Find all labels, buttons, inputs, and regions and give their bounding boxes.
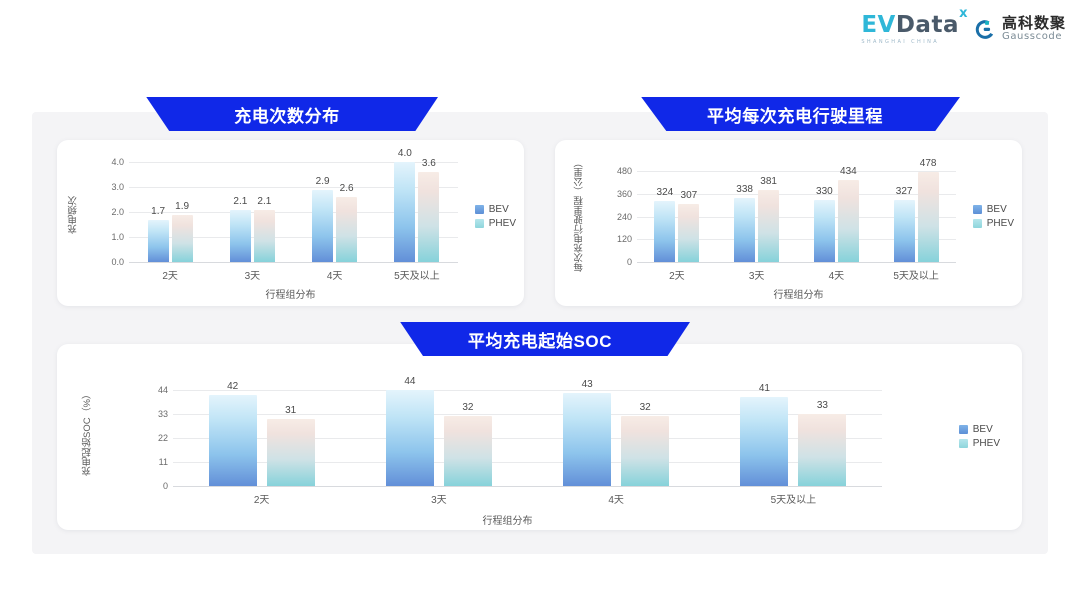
bar-bev[interactable]: 324 — [654, 201, 675, 262]
evdata-subtitle: SHANGHAI CHINA — [861, 39, 939, 45]
chart-title-banner-charging-frequency: 充电次数分布 — [136, 97, 438, 131]
bar-group: 43 32 — [528, 386, 705, 486]
y-axis-label-charging-frequency: 充电频次 — [67, 160, 81, 270]
legend-charging-frequency: BEV PHEV — [475, 204, 516, 229]
chart-charging-frequency: 充电频次 4.0 3.0 2.0 1.0 0.0 1.7 — [57, 140, 524, 306]
page-header: EVData x SHANGHAI CHINA 高科数聚 Gausscode — [0, 0, 1080, 62]
evdata-data-text: Data — [896, 12, 959, 38]
bar-group: 42 31 — [173, 386, 350, 486]
y-tick-label: 0 — [627, 257, 632, 267]
x-axis-labels-charging-frequency: 2天 3天 4天 5天及以上 — [129, 267, 458, 282]
bar-group: 327 478 — [876, 162, 956, 262]
bar-bev[interactable]: 44 — [386, 390, 434, 486]
bar-group: 324 307 — [637, 162, 717, 262]
bar-groups-avg-start-soc: 42 31 44 32 43 — [173, 386, 882, 486]
gridline-baseline: 0.0 — [129, 262, 458, 263]
chart-title-banner-avg-range-per-charge: 平均每次充电行驶里程 — [630, 97, 960, 131]
y-tick-label: 33 — [158, 409, 168, 419]
gausscode-name-en: Gausscode — [1002, 32, 1066, 43]
bar-phev[interactable]: 1.9 — [172, 215, 193, 263]
bar-value-label: 2.1 — [233, 196, 247, 207]
x-tick-label: 4天 — [797, 267, 877, 282]
x-tick-label: 2天 — [637, 267, 717, 282]
bar-bev[interactable]: 2.9 — [312, 190, 333, 263]
bar-bev[interactable]: 4.0 — [394, 162, 415, 262]
bar-phev[interactable]: 2.6 — [336, 197, 357, 262]
chart-title-charging-frequency: 充电次数分布 — [216, 102, 358, 127]
bar-value-label: 33 — [817, 400, 828, 411]
legend-item-bev[interactable]: BEV — [475, 204, 516, 215]
bar-value-label: 1.7 — [151, 206, 165, 217]
gausscode-logo: 高科数聚 Gausscode — [973, 16, 1066, 42]
legend-item-bev[interactable]: BEV — [959, 424, 1000, 435]
x-tick-label: 3天 — [211, 267, 293, 282]
bar-bev[interactable]: 42 — [209, 395, 257, 486]
bar-value-label: 43 — [582, 379, 593, 390]
legend-item-bev[interactable]: BEV — [973, 204, 1014, 215]
bar-phev[interactable]: 32 — [621, 416, 669, 486]
bar-group: 338 381 — [717, 162, 797, 262]
bar-phev[interactable]: 31 — [267, 419, 315, 486]
bar-value-label: 381 — [760, 176, 777, 187]
legend-label-bev: BEV — [973, 424, 993, 435]
bar-bev[interactable]: 41 — [740, 397, 788, 486]
x-tick-label: 5天及以上 — [705, 491, 882, 506]
y-tick-label: 0.0 — [111, 257, 124, 267]
chart-title-avg-start-soc: 平均充电起始SOC — [450, 327, 630, 352]
bar-value-label: 324 — [657, 187, 674, 198]
bar-bev[interactable]: 43 — [563, 393, 611, 487]
y-axis-label-avg-range-per-charge: 每次充电行驶里程 （公里） — [567, 156, 593, 274]
y-axis-label-text: 每次充电行驶里程 — [574, 196, 586, 272]
bar-phev[interactable]: 33 — [798, 414, 846, 486]
x-axis-title-avg-range-per-charge: 行程组分布 — [565, 286, 1032, 301]
y-tick-label: 480 — [617, 166, 632, 176]
bar-value-label: 338 — [736, 184, 753, 195]
y-tick-label: 11 — [159, 457, 168, 467]
chart-avg-range-per-charge: 每次充电行驶里程 （公里） 480 360 240 120 0 — [555, 140, 1022, 306]
x-tick-label: 3天 — [350, 491, 527, 506]
bar-value-label: 2.9 — [316, 176, 330, 187]
bar-group: 2.9 2.6 — [294, 162, 376, 262]
gausscode-name-cn: 高科数聚 — [1002, 16, 1066, 32]
bar-phev[interactable]: 434 — [838, 180, 859, 262]
x-tick-label: 4天 — [294, 267, 376, 282]
bar-value-label: 4.0 — [398, 148, 412, 159]
bar-value-label: 1.9 — [175, 201, 189, 212]
bar-value-label: 2.6 — [340, 183, 354, 194]
x-tick-label: 4天 — [528, 491, 705, 506]
bar-phev[interactable]: 478 — [918, 172, 939, 263]
bar-bev[interactable]: 327 — [894, 200, 915, 262]
bar-value-label: 44 — [404, 376, 415, 387]
x-axis-title-avg-start-soc: 行程组分布 — [25, 512, 990, 527]
bar-groups-charging-frequency: 1.7 1.9 2.1 2.1 2.9 — [129, 162, 458, 262]
y-tick-label: 3.0 — [111, 182, 124, 192]
bar-value-label: 41 — [759, 383, 770, 394]
legend-avg-range-per-charge: BEV PHEV — [973, 204, 1014, 229]
y-tick-label: 4.0 — [111, 157, 124, 167]
bar-bev[interactable]: 330 — [814, 200, 835, 263]
legend-label-bev: BEV — [489, 204, 509, 215]
x-axis-labels-avg-range-per-charge: 2天 3天 4天 5天及以上 — [637, 267, 956, 282]
x-axis-title-charging-frequency: 行程组分布 — [57, 286, 524, 301]
y-tick-label: 2.0 — [111, 207, 124, 217]
legend-swatch-phev-icon — [475, 219, 484, 228]
chart-card-avg-start-soc: 充电起始SOC （%） 44 33 22 11 0 42 — [57, 344, 1022, 530]
bar-group: 41 33 — [705, 386, 882, 486]
y-axis-label-text: 充电起始SOC — [82, 417, 94, 476]
bar-phev[interactable]: 32 — [444, 416, 492, 486]
x-tick-label: 2天 — [129, 267, 211, 282]
legend-label-bev: BEV — [987, 204, 1007, 215]
gridline-baseline: 0 — [173, 486, 882, 487]
bar-groups-avg-range-per-charge: 324 307 338 381 330 — [637, 162, 956, 262]
legend-item-phev[interactable]: PHEV — [973, 218, 1014, 229]
evdata-ev-text: EV — [861, 12, 896, 38]
chart-title-banner-avg-start-soc: 平均充电起始SOC — [390, 322, 690, 356]
bar-phev[interactable]: 307 — [678, 204, 699, 262]
legend-swatch-phev-icon — [959, 439, 968, 448]
gausscode-text: 高科数聚 Gausscode — [1002, 16, 1066, 42]
x-tick-label: 2天 — [173, 491, 350, 506]
bar-bev[interactable]: 1.7 — [148, 220, 169, 263]
legend-label-phev: PHEV — [987, 218, 1014, 229]
bar-group: 2.1 2.1 — [211, 162, 293, 262]
bar-phev[interactable]: 2.1 — [254, 210, 275, 263]
evdata-logo: EVData x SHANGHAI CHINA — [861, 14, 959, 45]
y-axis-label-unit: （公里） — [574, 158, 586, 196]
y-axis-label-avg-start-soc: 充电起始SOC （%） — [75, 378, 101, 488]
bar-bev[interactable]: 338 — [734, 198, 755, 262]
bar-value-label: 42 — [227, 381, 238, 392]
bar-value-label: 434 — [840, 166, 857, 177]
x-axis-labels-avg-start-soc: 2天 3天 4天 5天及以上 — [173, 491, 882, 506]
bar-value-label: 307 — [681, 190, 698, 201]
y-tick-label: 360 — [617, 189, 632, 199]
x-tick-label: 3天 — [717, 267, 797, 282]
legend-label-phev: PHEV — [973, 438, 1000, 449]
y-axis-label-unit: （%） — [82, 390, 94, 417]
legend-swatch-bev-icon — [475, 205, 484, 214]
x-tick-label: 5天及以上 — [876, 267, 956, 282]
legend-item-phev[interactable]: PHEV — [475, 218, 516, 229]
y-tick-label: 120 — [617, 234, 632, 244]
bar-group: 330 434 — [797, 162, 877, 262]
legend-label-phev: PHEV — [489, 218, 516, 229]
x-tick-label: 5天及以上 — [376, 267, 458, 282]
plot-area-avg-start-soc: 44 33 22 11 0 42 31 — [173, 386, 882, 486]
bar-phev[interactable]: 381 — [758, 190, 779, 262]
bar-value-label: 32 — [640, 402, 651, 413]
bar-value-label: 330 — [816, 186, 833, 197]
y-axis-label-text: 充电频次 — [68, 196, 80, 234]
bar-value-label: 2.1 — [257, 196, 271, 207]
y-tick-label: 0 — [163, 481, 168, 491]
bar-group: 1.7 1.9 — [129, 162, 211, 262]
evdata-x-superscript-icon: x — [959, 7, 968, 20]
logo-group: EVData x SHANGHAI CHINA 高科数聚 Gausscode — [861, 14, 1066, 45]
legend-swatch-bev-icon — [959, 425, 968, 434]
bar-group: 44 32 — [350, 386, 527, 486]
y-tick-label: 1.0 — [111, 232, 124, 242]
plot-area-avg-range-per-charge: 480 360 240 120 0 324 307 — [637, 162, 956, 262]
y-tick-label: 44 — [158, 385, 168, 395]
bar-phev[interactable]: 3.6 — [418, 172, 439, 262]
legend-swatch-phev-icon — [973, 219, 982, 228]
gridline-baseline: 0 — [637, 262, 956, 263]
legend-item-phev[interactable]: PHEV — [959, 438, 1000, 449]
gausscode-mark-icon — [973, 18, 996, 41]
bar-group: 4.0 3.6 — [376, 162, 458, 262]
bar-value-label: 478 — [920, 158, 937, 169]
plot-area-charging-frequency: 4.0 3.0 2.0 1.0 0.0 1.7 1.9 — [129, 162, 458, 262]
legend-avg-start-soc: BEV PHEV — [959, 424, 1000, 449]
chart-avg-start-soc: 充电起始SOC （%） 44 33 22 11 0 42 — [57, 344, 1022, 530]
bar-value-label: 327 — [896, 186, 913, 197]
chart-card-charging-frequency: 充电频次 4.0 3.0 2.0 1.0 0.0 1.7 — [57, 140, 524, 306]
evdata-wordmark: EVData x — [861, 14, 959, 37]
y-tick-label: 22 — [158, 433, 168, 443]
legend-swatch-bev-icon — [973, 205, 982, 214]
bar-value-label: 31 — [285, 405, 296, 416]
bar-value-label: 32 — [462, 402, 473, 413]
chart-card-avg-range-per-charge: 每次充电行驶里程 （公里） 480 360 240 120 0 — [555, 140, 1022, 306]
bar-bev[interactable]: 2.1 — [230, 210, 251, 263]
chart-title-avg-range-per-charge: 平均每次充电行驶里程 — [689, 102, 901, 127]
y-tick-label: 240 — [617, 212, 632, 222]
bar-value-label: 3.6 — [422, 158, 436, 169]
